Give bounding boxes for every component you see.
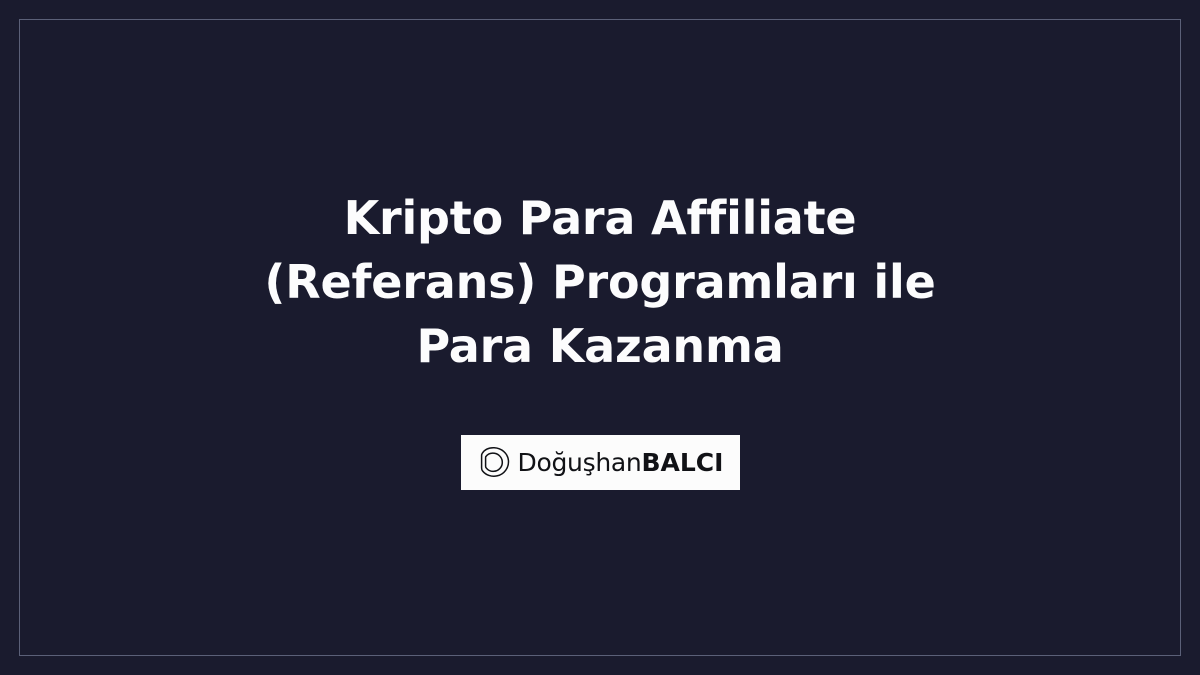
dogushan-balci-d-monogram-icon bbox=[477, 446, 511, 478]
title-line-2: (Referans) Programları ile bbox=[264, 250, 935, 314]
title-line-3: Para Kazanma bbox=[264, 314, 935, 378]
page-title: Kripto Para Affiliate (Referans) Program… bbox=[224, 186, 975, 378]
logo-wordmark-light: Doğuşhan bbox=[518, 448, 642, 477]
slide-canvas: Kripto Para Affiliate (Referans) Program… bbox=[0, 0, 1200, 675]
logo-wordmark-bold: BALCI bbox=[641, 448, 723, 477]
title-line-1: Kripto Para Affiliate bbox=[264, 186, 935, 250]
logo-lockup: DoğuşhanBALCI bbox=[477, 446, 724, 478]
slide-content: Kripto Para Affiliate (Referans) Program… bbox=[0, 0, 1200, 675]
logo-wordmark: DoğuşhanBALCI bbox=[518, 450, 724, 475]
logo-badge: DoğuşhanBALCI bbox=[461, 435, 740, 490]
